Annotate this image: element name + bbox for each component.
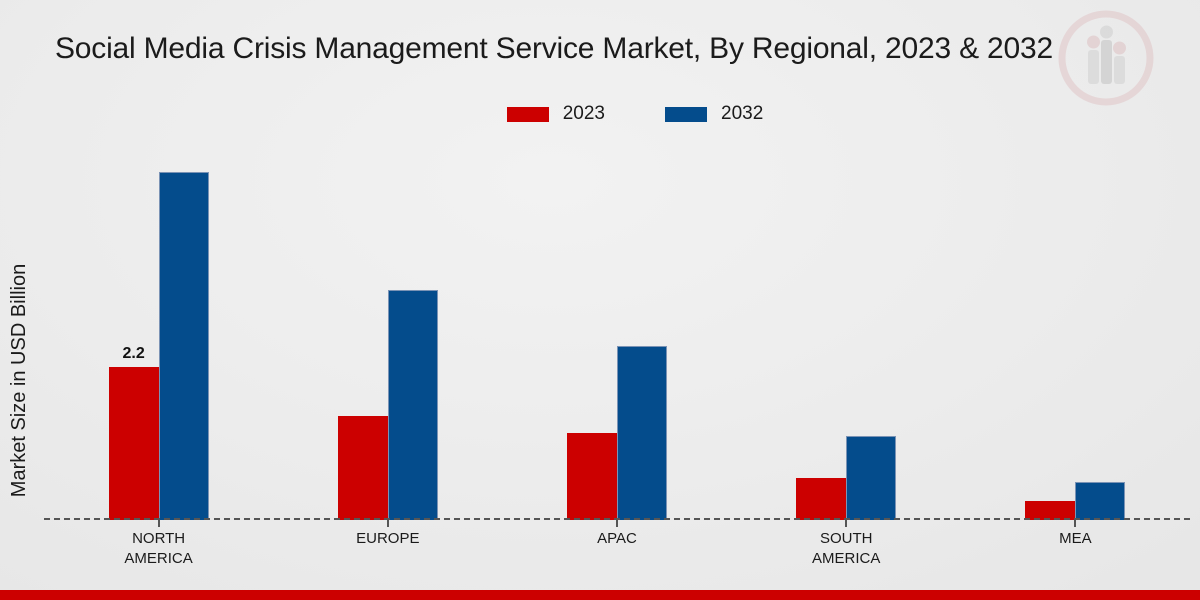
bar-group: 2.2NORTH AMERICA — [44, 130, 273, 520]
bar-2032-5[interactable] — [1075, 482, 1125, 520]
legend-item-2023[interactable]: 2023 — [507, 103, 605, 125]
bar-2032-3[interactable] — [617, 346, 667, 520]
y-axis-title-text: Market Size in USD Billion — [9, 263, 32, 496]
bar-2023-4[interactable] — [796, 478, 846, 520]
x-axis-tick — [845, 520, 847, 527]
bar-group: APAC — [502, 130, 731, 520]
legend-item-2032[interactable]: 2032 — [665, 103, 763, 125]
legend-swatch-2032 — [665, 107, 707, 122]
footer-accent-band — [0, 590, 1200, 600]
x-axis-baseline — [44, 518, 1190, 520]
bar-2032-4[interactable] — [846, 436, 896, 520]
bar-pair — [502, 130, 731, 520]
legend-swatch-2023 — [507, 107, 549, 122]
bar-2032-1[interactable] — [159, 172, 209, 520]
chart-legend: 2023 2032 — [0, 103, 1200, 125]
x-axis-category-label: MEA — [1059, 529, 1092, 549]
bar-group: EUROPE — [273, 130, 502, 520]
y-axis-title: Market Size in USD Billion — [0, 205, 40, 555]
bar-group: SOUTH AMERICA — [732, 130, 961, 520]
x-axis-category-label: APAC — [597, 529, 637, 549]
x-axis-category-label: NORTH AMERICA — [124, 529, 192, 570]
bar-2023-2[interactable] — [338, 416, 388, 520]
bar-value-label: 2.2 — [122, 345, 144, 363]
bar-2023-3[interactable] — [567, 433, 617, 520]
bar-group: MEA — [961, 130, 1190, 520]
bar-pair — [732, 130, 961, 520]
chart-figure: Social Media Crisis Management Service M… — [0, 0, 1200, 600]
x-axis-tick — [158, 520, 160, 527]
bar-groups: 2.2NORTH AMERICAEUROPEAPACSOUTH AMERICAM… — [44, 130, 1190, 520]
bar-2023-1[interactable]: 2.2 — [109, 367, 159, 520]
legend-label-2032: 2032 — [721, 103, 763, 125]
bar-pair — [273, 130, 502, 520]
x-axis-tick — [616, 520, 618, 527]
x-axis-tick — [1074, 520, 1076, 527]
x-axis-category-label: SOUTH AMERICA — [812, 529, 880, 570]
x-axis-category-label: EUROPE — [356, 529, 419, 549]
legend-label-2023: 2023 — [563, 103, 605, 125]
plot-area: 2.2NORTH AMERICAEUROPEAPACSOUTH AMERICAM… — [44, 130, 1190, 520]
bar-pair — [961, 130, 1190, 520]
bar-2032-2[interactable] — [388, 290, 438, 520]
x-axis-tick — [387, 520, 389, 527]
chart-title: Social Media Crisis Management Service M… — [55, 32, 1175, 66]
bar-pair: 2.2 — [44, 130, 273, 520]
